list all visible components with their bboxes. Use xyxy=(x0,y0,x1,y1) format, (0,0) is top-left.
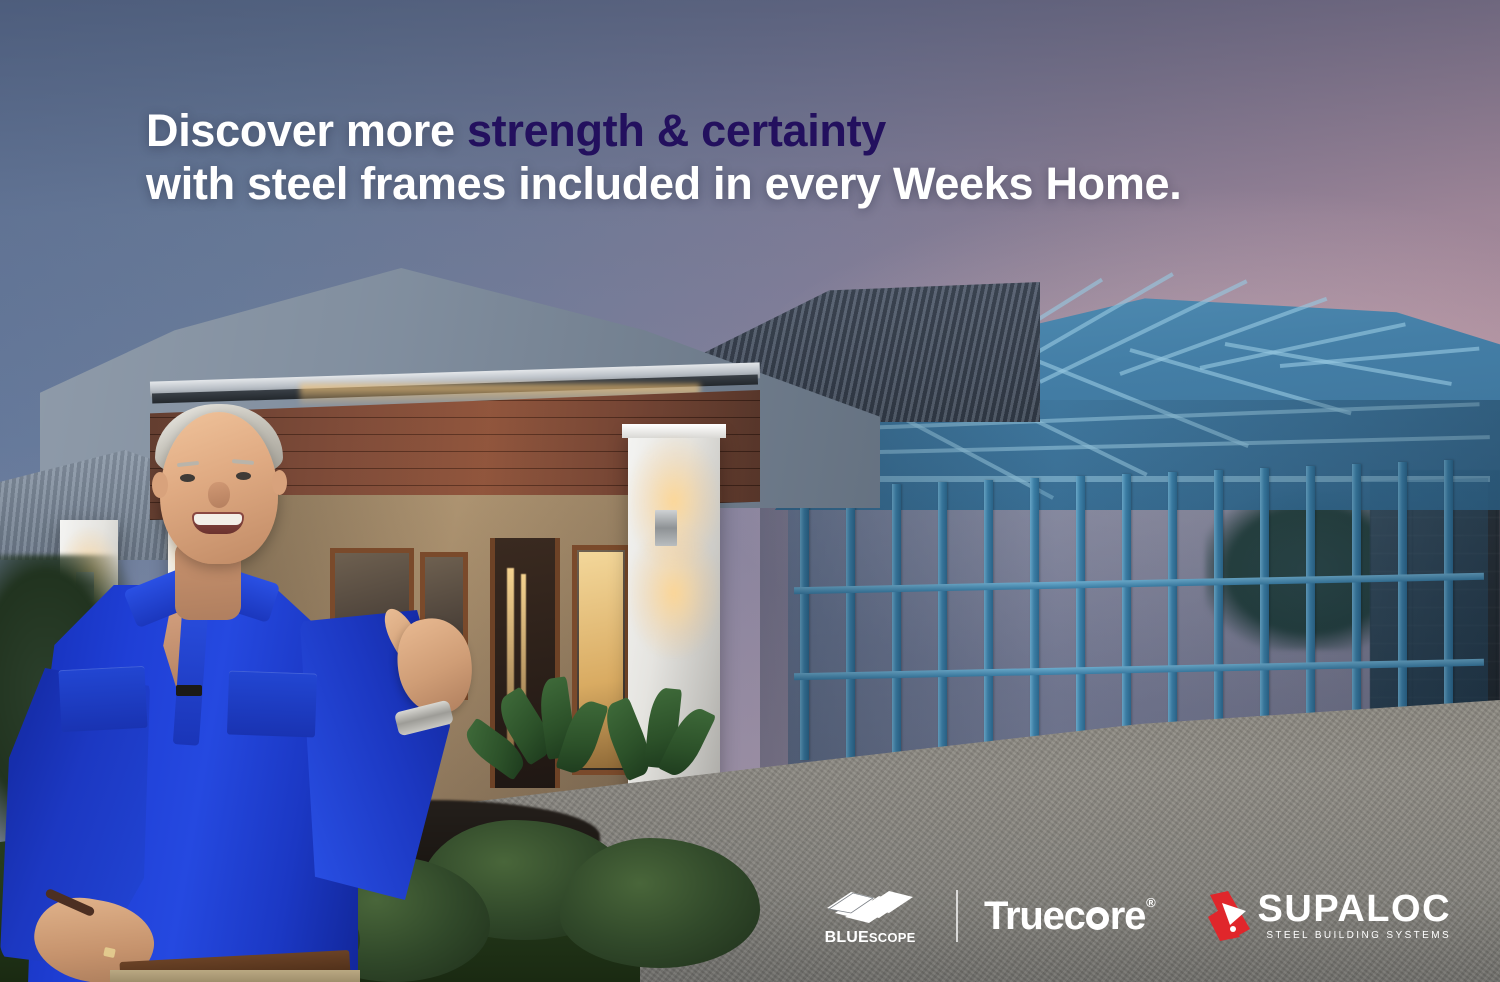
logo-divider xyxy=(956,890,958,942)
supaloc-tagline: STEEL BUILDING SYSTEMS xyxy=(1258,930,1451,941)
bluescope-word-blue: BLUE xyxy=(825,929,869,946)
headline-line-2: with steel frames included in every Week… xyxy=(146,157,1396,210)
headline: Discover more strength & certainty with … xyxy=(146,104,1396,210)
shirt-pocket-right xyxy=(227,670,317,737)
spokesperson xyxy=(0,400,470,982)
ear-left xyxy=(152,472,168,498)
headline-line-1: Discover more strength & certainty xyxy=(146,104,1396,157)
bluescope-logo: BLUESCOPE xyxy=(810,886,930,947)
teeth xyxy=(194,514,242,525)
bluescope-wave-icon xyxy=(821,886,919,926)
bluescope-wordmark: BLUESCOPE xyxy=(825,929,916,947)
wall-light-main xyxy=(655,510,677,546)
nose xyxy=(208,482,230,508)
truecore-prefix: Truec xyxy=(984,894,1085,939)
truecore-suffix: re xyxy=(1110,894,1145,939)
eye-left xyxy=(180,474,195,482)
truecore-registered-mark: ® xyxy=(1146,895,1154,910)
supaloc-red-slash-icon xyxy=(1206,889,1254,943)
supaloc-logo: SUPALOC STEEL BUILDING SYSTEMS xyxy=(1206,889,1451,943)
truecore-logo: Truec re ® xyxy=(984,894,1154,939)
column-downlight-glow xyxy=(628,528,720,658)
smiling-mouth xyxy=(192,512,244,534)
shirt-pocket-left xyxy=(58,666,147,732)
truecore-o-ring-icon xyxy=(1086,907,1109,930)
supaloc-text-block: SUPALOC STEEL BUILDING SYSTEMS xyxy=(1258,891,1451,941)
headline-line1-prefix: Discover more xyxy=(146,105,467,156)
bluescope-word-scope: SCOPE xyxy=(869,930,916,945)
trousers xyxy=(110,970,360,982)
shirt-brand-tag xyxy=(176,685,202,696)
headline-line1-accent: strength & certainty xyxy=(467,105,886,156)
hero-banner: Discover more strength & certainty with … xyxy=(0,0,1500,982)
partner-logo-bar: BLUESCOPE Truec re ® SUPALOC STEEL BUILD… xyxy=(810,878,1451,954)
ear-right xyxy=(272,470,287,495)
eye-right xyxy=(236,472,251,480)
supaloc-wordmark: SUPALOC xyxy=(1258,891,1451,927)
